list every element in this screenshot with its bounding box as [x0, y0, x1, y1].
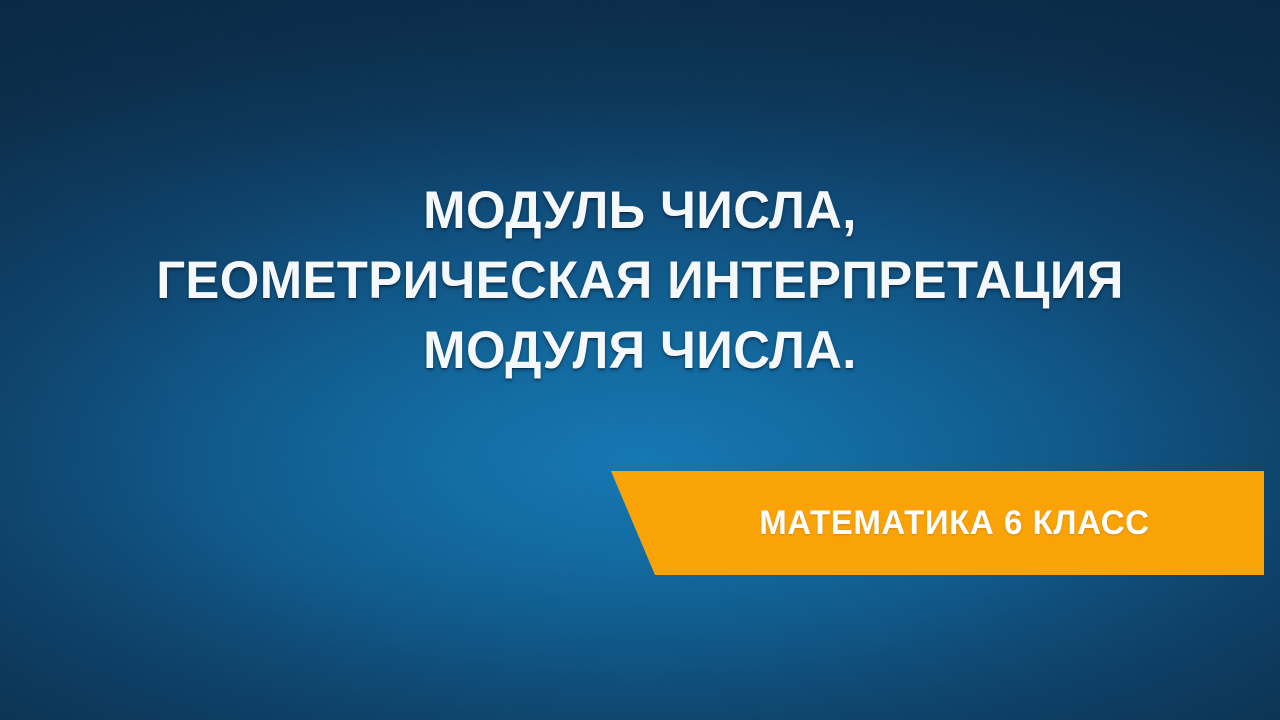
subject-banner-label: МАТЕМАТИКА 6 КЛАСС	[614, 468, 1254, 578]
slide-title: МОДУЛЬ ЧИСЛА, ГЕОМЕТРИЧЕСКАЯ ИНТЕРПРЕТАЦ…	[0, 176, 1280, 386]
subject-banner: МАТЕМАТИКА 6 КЛАСС	[604, 468, 1264, 578]
slide-title-line-3: МОДУЛЯ ЧИСЛА.	[26, 316, 1255, 386]
slide-title-line-1: МОДУЛЬ ЧИСЛА,	[26, 176, 1255, 246]
presentation-slide: МОДУЛЬ ЧИСЛА, ГЕОМЕТРИЧЕСКАЯ ИНТЕРПРЕТАЦ…	[0, 0, 1280, 720]
slide-title-line-2: ГЕОМЕТРИЧЕСКАЯ ИНТЕРПРЕТАЦИЯ	[26, 246, 1255, 316]
